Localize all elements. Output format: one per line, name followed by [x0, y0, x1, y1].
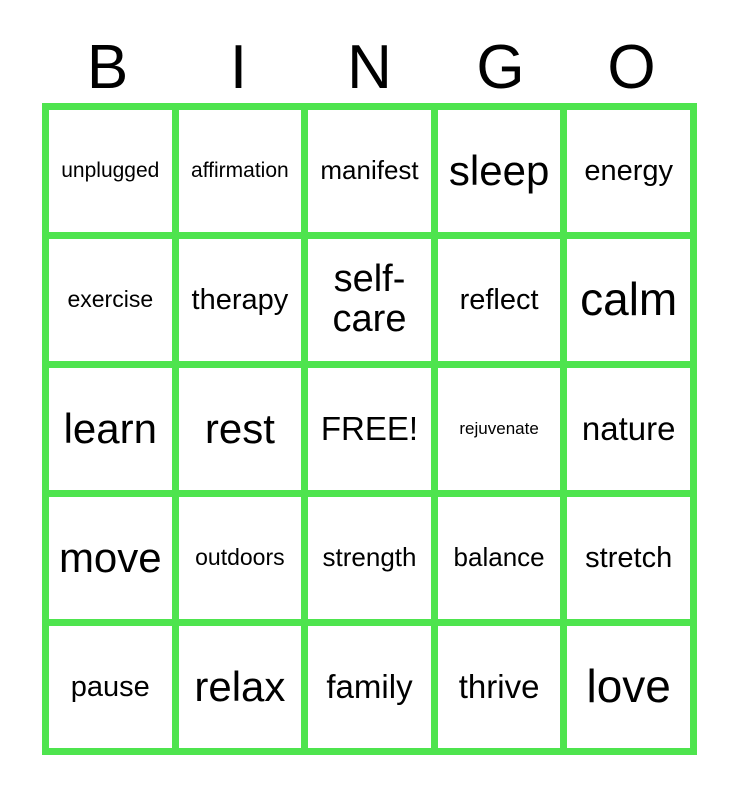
bingo-cell-label: love [570, 663, 687, 711]
bingo-cell-label: outdoors [182, 546, 299, 570]
bingo-grid: unpluggedaffirmationmanifestsleepenergye… [42, 103, 697, 755]
bingo-header-letter-n: N [304, 22, 435, 103]
bingo-cell-r4c4[interactable]: balance [438, 497, 561, 619]
bingo-cell-label: energy [570, 156, 687, 186]
bingo-cell-label: move [52, 536, 169, 580]
bingo-cell-r4c5[interactable]: stretch [567, 497, 690, 619]
bingo-cell-r4c2[interactable]: outdoors [179, 497, 302, 619]
bingo-cell-r3c2[interactable]: rest [179, 368, 302, 490]
bingo-cell-r2c1[interactable]: exercise [49, 239, 172, 361]
bingo-cell-r2c5[interactable]: calm [567, 239, 690, 361]
bingo-cell-label: exercise [52, 288, 169, 312]
bingo-card: B I N G O unpluggedaffirmationmanifestsl… [0, 0, 738, 800]
bingo-cell-label: manifest [311, 157, 428, 184]
bingo-header-row: B I N G O [42, 22, 697, 103]
bingo-cell-r4c3[interactable]: strength [308, 497, 431, 619]
bingo-cell-label: family [311, 670, 428, 704]
bingo-cell-label: stretch [570, 543, 687, 573]
bingo-cell-r2c4[interactable]: reflect [438, 239, 561, 361]
bingo-cell-r3c4[interactable]: rejuvenate [438, 368, 561, 490]
bingo-cell-label: calm [570, 276, 687, 324]
bingo-cell-label: self-care [311, 260, 428, 339]
bingo-cell-r3c3[interactable]: FREE! [308, 368, 431, 490]
bingo-cell-r1c1[interactable]: unplugged [49, 110, 172, 232]
bingo-cell-r4c1[interactable]: move [49, 497, 172, 619]
bingo-cell-label: learn [52, 407, 169, 451]
bingo-cell-r1c2[interactable]: affirmation [179, 110, 302, 232]
bingo-cell-label: pause [52, 672, 169, 702]
bingo-cell-r5c3[interactable]: family [308, 626, 431, 748]
bingo-header-letter-i: I [173, 22, 304, 103]
bingo-cell-r1c5[interactable]: energy [567, 110, 690, 232]
bingo-cell-label: therapy [182, 285, 299, 315]
bingo-cell-label: nature [570, 412, 687, 446]
bingo-cell-r1c3[interactable]: manifest [308, 110, 431, 232]
bingo-cell-label: thrive [441, 670, 558, 704]
bingo-cell-r2c3[interactable]: self-care [308, 239, 431, 361]
bingo-cell-r1c4[interactable]: sleep [438, 110, 561, 232]
bingo-cell-r5c5[interactable]: love [567, 626, 690, 748]
bingo-header-letter-b: B [42, 22, 173, 103]
bingo-cell-label: balance [441, 544, 558, 571]
bingo-cell-r2c2[interactable]: therapy [179, 239, 302, 361]
bingo-cell-label: reflect [441, 285, 558, 315]
bingo-cell-r5c2[interactable]: relax [179, 626, 302, 748]
bingo-cell-label: affirmation [182, 160, 299, 182]
bingo-cell-r3c1[interactable]: learn [49, 368, 172, 490]
bingo-cell-label: strength [311, 544, 428, 571]
bingo-cell-r5c4[interactable]: thrive [438, 626, 561, 748]
bingo-cell-label: unplugged [52, 160, 169, 182]
bingo-cell-label: sleep [441, 149, 558, 193]
bingo-header-letter-o: O [566, 22, 697, 103]
bingo-cell-label: relax [182, 665, 299, 709]
bingo-cell-label: FREE! [311, 412, 428, 446]
bingo-cell-r3c5[interactable]: nature [567, 368, 690, 490]
bingo-cell-label: rest [182, 407, 299, 451]
bingo-cell-label: rejuvenate [441, 420, 558, 438]
bingo-cell-r5c1[interactable]: pause [49, 626, 172, 748]
bingo-header-letter-g: G [435, 22, 566, 103]
